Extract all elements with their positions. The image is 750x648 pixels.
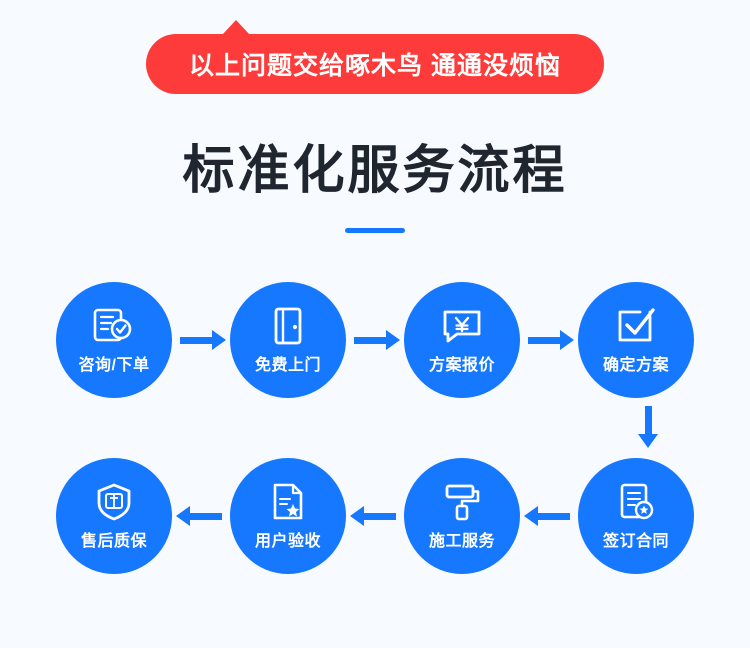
flow-node-confirm-plan[interactable]: 确定方案: [578, 282, 694, 398]
flow-row-1: 咨询/下单 免费上门: [0, 282, 750, 398]
banner-text: 以上问题交给啄木鸟 通通没烦恼: [189, 46, 561, 82]
paint-roller-icon: [442, 482, 482, 522]
arrow-right-icon: [172, 329, 230, 351]
arrow-left-icon: [172, 505, 230, 527]
flow-node-label: 签订合同: [603, 527, 669, 551]
document-star-icon: [269, 482, 307, 522]
flow-node-label: 用户验收: [255, 527, 321, 551]
title-underline: [345, 228, 405, 233]
flow-node-consult-order[interactable]: 咨询/下单: [56, 282, 172, 398]
flow-node-user-acceptance[interactable]: 用户验收: [230, 458, 346, 574]
flow-node-sign-contract[interactable]: 签订合同: [578, 458, 694, 574]
flow-row-2: 售后质保 用户验收: [0, 458, 750, 574]
arrow-left-icon: [520, 505, 578, 527]
document-check-icon: [93, 306, 135, 346]
flow-node-label: 确定方案: [603, 351, 669, 375]
flow-node-label: 售后质保: [81, 527, 147, 551]
page-title: 标准化服务流程: [0, 128, 750, 203]
arrow-left-icon: [346, 505, 404, 527]
flow-node-after-sales-warranty[interactable]: 售后质保: [56, 458, 172, 574]
arrow-right-icon: [520, 329, 578, 351]
door-icon: [271, 306, 305, 346]
flow-node-quotation[interactable]: 方案报价: [404, 282, 520, 398]
flow-node-label: 免费上门: [255, 351, 321, 375]
contract-seal-icon: [617, 482, 655, 522]
flow-node-construction-service[interactable]: 施工服务: [404, 458, 520, 574]
banner-pointer-icon: [222, 20, 250, 35]
arrow-right-icon: [346, 329, 404, 351]
flow-node-free-visit[interactable]: 免费上门: [230, 282, 346, 398]
checkmark-icon: [616, 306, 656, 346]
flow-node-label: 咨询/下单: [79, 351, 150, 375]
quote-yuan-icon: [441, 306, 483, 346]
shield-guarantee-icon: [96, 482, 132, 522]
flow-node-label: 施工服务: [429, 527, 495, 551]
headline-banner: 以上问题交给啄木鸟 通通没烦恼: [146, 34, 604, 94]
banner-container: 以上问题交给啄木鸟 通通没烦恼: [0, 34, 750, 94]
arrow-down-icon: [637, 406, 659, 452]
flow-node-label: 方案报价: [429, 351, 495, 375]
